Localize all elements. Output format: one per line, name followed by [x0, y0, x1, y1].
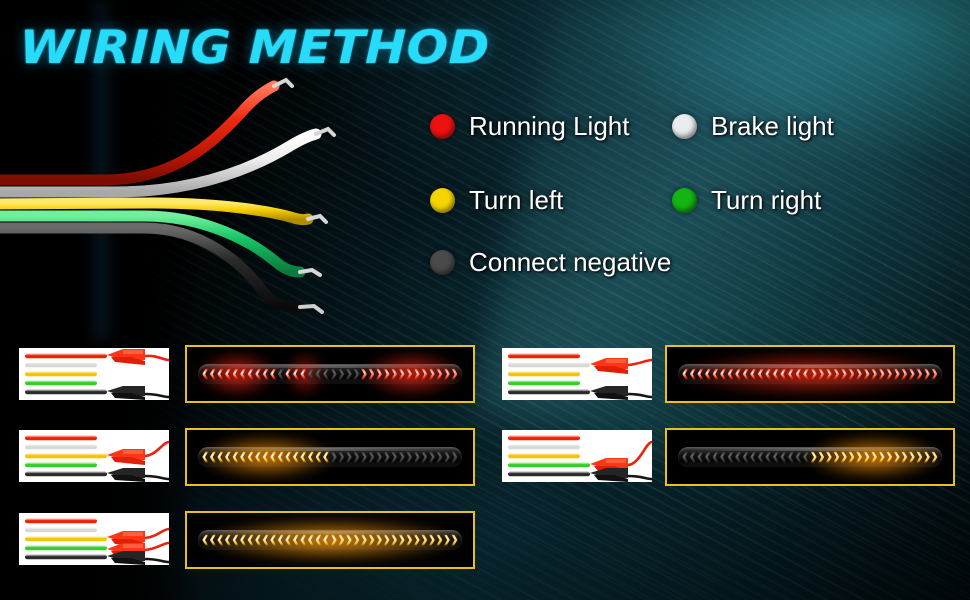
led-chip: [255, 535, 261, 546]
led-chip: [384, 452, 390, 463]
led-chip: [217, 369, 223, 380]
led-chip: [743, 369, 749, 380]
led-chip: [788, 452, 794, 463]
led-chip: [429, 452, 435, 463]
led-chip: [841, 369, 847, 380]
led-chip: [331, 452, 337, 463]
led-chip: [811, 452, 817, 463]
led-chip: [856, 452, 862, 463]
led-chip: [217, 535, 223, 546]
led-strip-panel-turn-right: [665, 428, 955, 486]
led-chip: [316, 535, 322, 546]
led-chip: [263, 369, 269, 380]
led-chip: [871, 452, 877, 463]
led-chip: [421, 452, 427, 463]
legend-item-label: Turn right: [711, 186, 821, 214]
led-chip: [894, 369, 900, 380]
led-chip: [735, 452, 741, 463]
legend-dot-icon: [430, 114, 455, 139]
led-chip: [316, 369, 322, 380]
led-chip: [361, 452, 367, 463]
led-chip: [728, 369, 734, 380]
led-chip: [735, 369, 741, 380]
wire-harness-svg: [0, 76, 414, 336]
led-chip: [436, 535, 442, 546]
led-chip: [406, 369, 412, 380]
led-chip: [331, 369, 337, 380]
led-chip: [210, 452, 216, 463]
led-chip: [818, 369, 824, 380]
led-chip: [316, 452, 322, 463]
led-chip: [240, 452, 246, 463]
led-chip: [376, 369, 382, 380]
legend-item-label: Turn left: [469, 186, 563, 214]
led-strip-brake-light: [678, 361, 941, 387]
led-chip: [788, 369, 794, 380]
led-chip: [773, 452, 779, 463]
legend-dot-icon: [430, 250, 455, 275]
led-chip: [210, 535, 216, 546]
led-chip: [451, 452, 457, 463]
wire-clip-panel-turn-left: [19, 430, 169, 482]
led-chip: [285, 369, 291, 380]
led-chip: [202, 452, 208, 463]
led-chip: [743, 452, 749, 463]
legend-item-turn-right: Turn right: [672, 186, 821, 214]
led-chip: [278, 452, 284, 463]
led-chip: [705, 452, 711, 463]
led-chip: [901, 369, 907, 380]
led-chip: [780, 369, 786, 380]
led-chip: [713, 369, 719, 380]
led-strip-highlight: [684, 448, 937, 451]
led-chip: [886, 452, 892, 463]
led-chip: [682, 369, 688, 380]
led-chip: [225, 369, 231, 380]
led-chip: [750, 369, 756, 380]
led-chip: [353, 369, 359, 380]
led-chip: [308, 452, 314, 463]
led-strip-panel-turn-left-and-right: [185, 511, 475, 569]
led-strip-turn-right: [678, 444, 941, 470]
led-chip: [916, 369, 922, 380]
led-chip: [421, 535, 427, 546]
led-chip: [909, 369, 915, 380]
led-chip: [705, 369, 711, 380]
led-chip: [323, 452, 329, 463]
led-chip: [879, 452, 885, 463]
led-chip: [233, 452, 239, 463]
led-chip: [765, 452, 771, 463]
led-chip: [879, 369, 885, 380]
led-chip: [436, 452, 442, 463]
led-chip-row: [682, 367, 937, 381]
led-strip-turn-left: [198, 444, 461, 470]
led-chip: [758, 452, 764, 463]
led-chip: [444, 452, 450, 463]
led-chip: [202, 369, 208, 380]
led-chip: [924, 369, 930, 380]
legend-item-running-light: Running Light: [430, 112, 629, 140]
led-chip: [758, 369, 764, 380]
led-chip: [796, 369, 802, 380]
led-chip: [728, 452, 734, 463]
led-chip: [690, 369, 696, 380]
led-chip: [323, 535, 329, 546]
led-chip: [278, 369, 284, 380]
led-chip: [300, 535, 306, 546]
legend-item-brake-light: Brake light: [672, 112, 834, 140]
led-chip: [848, 369, 854, 380]
led-chip: [421, 369, 427, 380]
led-chip: [901, 452, 907, 463]
led-chip: [368, 452, 374, 463]
led-chip: [856, 369, 862, 380]
led-chip: [444, 369, 450, 380]
led-chip: [255, 369, 261, 380]
led-chip: [720, 369, 726, 380]
led-chip: [864, 369, 870, 380]
led-chip: [886, 369, 892, 380]
led-chip: [414, 452, 420, 463]
led-chip: [293, 452, 299, 463]
led-chip: [353, 535, 359, 546]
led-chip: [436, 369, 442, 380]
led-chip: [285, 535, 291, 546]
led-chip: [361, 535, 367, 546]
legend-dot-icon: [672, 114, 697, 139]
infographic-canvas: WIRING METHOD: [0, 0, 970, 600]
led-chip: [924, 452, 930, 463]
led-chip-row: [202, 533, 457, 547]
led-chip: [826, 369, 832, 380]
led-chip: [270, 452, 276, 463]
led-chip: [240, 369, 246, 380]
led-chip: [406, 452, 412, 463]
led-chip: [368, 369, 374, 380]
led-chip: [233, 535, 239, 546]
led-chip: [376, 535, 382, 546]
led-chip: [818, 452, 824, 463]
led-chip: [338, 535, 344, 546]
led-chip: [864, 452, 870, 463]
legend-item-label: Running Light: [469, 112, 629, 140]
led-chip: [353, 452, 359, 463]
led-chip: [444, 535, 450, 546]
led-chip: [451, 369, 457, 380]
led-chip: [248, 452, 254, 463]
led-strip-panel-turn-left: [185, 428, 475, 486]
led-chip: [720, 452, 726, 463]
led-chip: [361, 369, 367, 380]
legend-dot-icon: [672, 188, 697, 213]
led-chip: [406, 535, 412, 546]
led-chip: [690, 452, 696, 463]
led-chip: [682, 452, 688, 463]
led-chip: [346, 535, 352, 546]
led-chip: [384, 369, 390, 380]
led-chip: [916, 452, 922, 463]
led-chip: [331, 535, 337, 546]
led-chip: [429, 535, 435, 546]
led-chip: [399, 369, 405, 380]
led-chip: [780, 452, 786, 463]
page-title: WIRING METHOD: [19, 22, 490, 72]
led-chip: [323, 369, 329, 380]
led-chip: [803, 452, 809, 463]
wire-clip-panel-turn-left-and-right: [19, 513, 169, 565]
led-chip: [429, 369, 435, 380]
led-chip: [368, 535, 374, 546]
led-strip-turn-left-and-right: [198, 527, 461, 553]
led-chip: [391, 452, 397, 463]
led-chip: [217, 452, 223, 463]
led-chip: [414, 535, 420, 546]
led-strip-panel-brake-light: [665, 345, 955, 403]
led-chip: [697, 369, 703, 380]
led-chip: [848, 452, 854, 463]
led-chip: [263, 452, 269, 463]
led-chip: [833, 452, 839, 463]
led-chip-row: [202, 367, 457, 381]
led-chip: [255, 452, 261, 463]
led-chip: [338, 452, 344, 463]
led-chip: [300, 452, 306, 463]
led-chip: [210, 369, 216, 380]
led-chip: [293, 369, 299, 380]
led-chip-row: [682, 450, 937, 464]
led-chip: [697, 452, 703, 463]
led-chip: [773, 369, 779, 380]
led-chip: [384, 535, 390, 546]
led-chip: [202, 535, 208, 546]
led-chip: [811, 369, 817, 380]
led-chip: [909, 452, 915, 463]
led-chip: [931, 452, 937, 463]
led-chip: [841, 452, 847, 463]
wire-clip-panel-turn-right: [502, 430, 652, 482]
legend-item-connect-negative: Connect negative: [430, 248, 671, 276]
led-chip: [796, 452, 802, 463]
led-chip: [414, 369, 420, 380]
led-strip-running-light: [198, 361, 461, 387]
legend-item-turn-left: Turn left: [430, 186, 563, 214]
legend-dot-icon: [430, 188, 455, 213]
led-chip: [931, 369, 937, 380]
led-chip: [871, 369, 877, 380]
led-chip: [894, 452, 900, 463]
led-chip: [278, 535, 284, 546]
led-strip-highlight: [204, 448, 457, 451]
led-chip: [285, 452, 291, 463]
led-chip: [225, 535, 231, 546]
led-chip: [263, 535, 269, 546]
led-chip: [833, 369, 839, 380]
led-strip-panel-running-light: [185, 345, 475, 403]
led-chip: [338, 369, 344, 380]
led-chip: [225, 452, 231, 463]
led-chip: [308, 535, 314, 546]
led-strip-highlight: [204, 365, 457, 368]
led-chip: [451, 535, 457, 546]
led-chip: [399, 452, 405, 463]
led-chip: [391, 369, 397, 380]
led-chip: [346, 369, 352, 380]
led-chip-row: [202, 450, 457, 464]
led-strip-highlight: [204, 531, 457, 534]
wire-clip-panel-running-light: [19, 348, 169, 400]
led-strip-highlight: [684, 365, 937, 368]
led-chip: [248, 535, 254, 546]
led-chip: [248, 369, 254, 380]
led-chip: [270, 369, 276, 380]
led-chip: [376, 452, 382, 463]
led-chip: [803, 369, 809, 380]
led-chip: [765, 369, 771, 380]
wire-harness-illustration: [0, 76, 414, 336]
led-chip: [399, 535, 405, 546]
led-chip: [300, 369, 306, 380]
led-chip: [391, 535, 397, 546]
legend-item-label: Brake light: [711, 112, 834, 140]
led-chip: [293, 535, 299, 546]
legend-item-label: Connect negative: [469, 248, 671, 276]
led-chip: [240, 535, 246, 546]
led-chip: [826, 452, 832, 463]
led-chip: [346, 452, 352, 463]
led-chip: [308, 369, 314, 380]
led-chip: [233, 369, 239, 380]
led-chip: [270, 535, 276, 546]
led-chip: [750, 452, 756, 463]
led-chip: [713, 452, 719, 463]
wire-clip-panel-brake-light: [502, 348, 652, 400]
